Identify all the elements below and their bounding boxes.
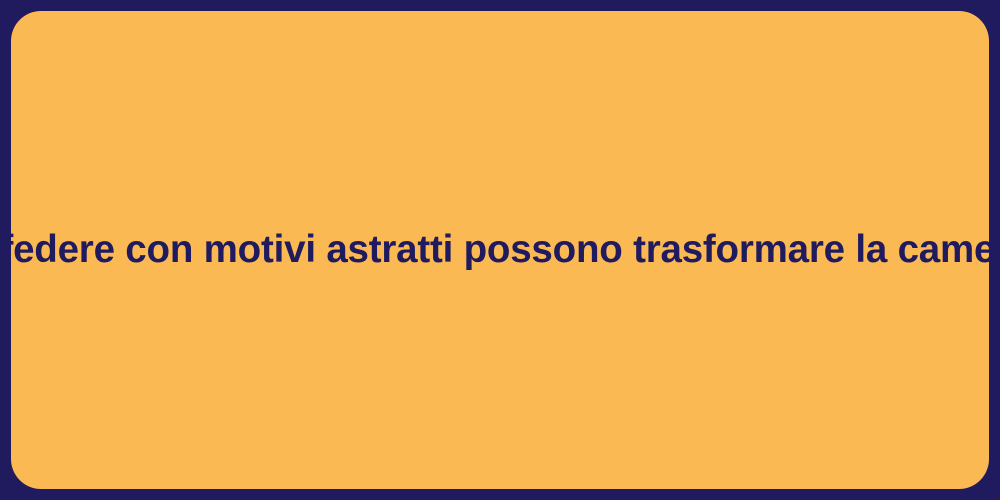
card-frame: Le federe con motivi astratti possono tr… [0, 0, 1000, 500]
headline-text: Le federe con motivi astratti possono tr… [0, 227, 1000, 274]
card-panel: Le federe con motivi astratti possono tr… [11, 11, 989, 489]
